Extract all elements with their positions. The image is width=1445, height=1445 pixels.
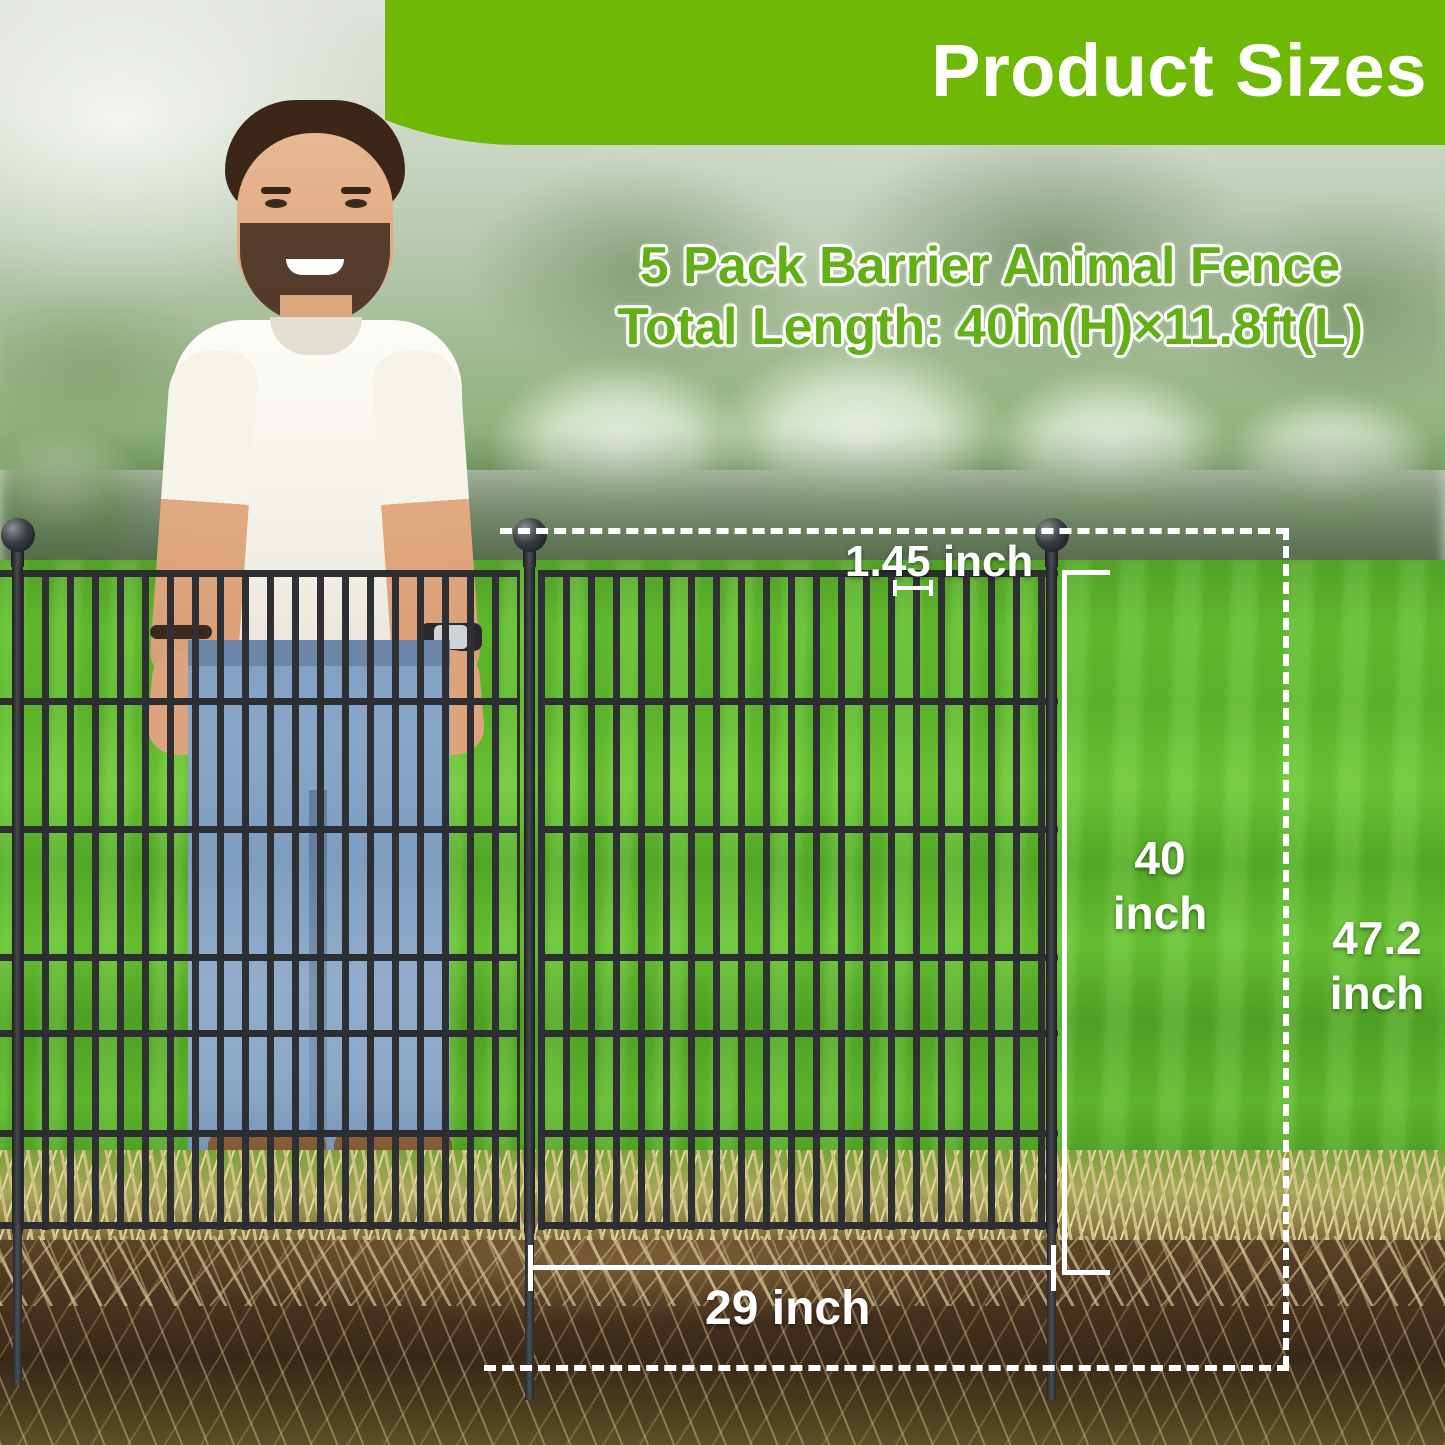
- subtitle-line-2: Total Length: 40in(H)×11.8ft(L): [545, 297, 1435, 358]
- product-size-infographic: Product Sizes 5 Pack Barrier Animal Fenc…: [0, 0, 1445, 1445]
- dimension-label-total-height-line-1: 47.2: [1297, 915, 1445, 962]
- fence-post: [1046, 563, 1057, 1235]
- fence-rail: [0, 698, 520, 705]
- fence-rail: [0, 1130, 520, 1137]
- eyebrow-right: [341, 187, 371, 194]
- eyebrow-left: [261, 187, 291, 194]
- ball-finial-icon: [1035, 518, 1069, 552]
- fence-panel-right: [538, 570, 1058, 1230]
- fence-rail: [0, 570, 520, 577]
- fence-rail: [538, 826, 1058, 833]
- fence-rail: [538, 954, 1058, 961]
- fence-rail: [538, 698, 1058, 705]
- fence-panel-left: [0, 570, 520, 1230]
- dimension-line-total-height-dashed: [1283, 528, 1289, 1368]
- dimension-label-height-line-1: 40: [1090, 835, 1230, 882]
- dimension-cap-left: [528, 1245, 533, 1291]
- eye-right: [345, 199, 367, 208]
- dimension-label-bar-spacing: 1.45 inch: [845, 540, 1033, 585]
- fence-rail: [538, 1222, 1058, 1229]
- bracket-bar: [893, 586, 933, 590]
- fence-rail: [0, 1222, 520, 1229]
- dimension-line-29inch: [528, 1265, 1056, 1270]
- dimension-label-total-height-line-2: inch: [1297, 970, 1445, 1017]
- dimension-line-40inch: [1062, 570, 1067, 1275]
- dimension-line-top-dashed: [500, 528, 1288, 534]
- dimension-cap-top: [1062, 570, 1110, 575]
- subtitle-line-1: 5 Pack Barrier Animal Fence: [545, 236, 1435, 297]
- dimension-cap-right: [1051, 1245, 1056, 1291]
- dimension-line-bottom-dashed: [484, 1365, 1289, 1371]
- fence-rail: [538, 1130, 1058, 1137]
- ball-finial-icon: [1, 518, 35, 552]
- page-title: Product Sizes: [931, 34, 1427, 108]
- fence-rail: [0, 1030, 520, 1037]
- fence-rail: [0, 954, 520, 961]
- fence-post: [12, 563, 23, 1235]
- product-subtitle: 5 Pack Barrier Animal Fence Total Length…: [545, 236, 1435, 358]
- dimension-cap-bottom: [1062, 1270, 1110, 1275]
- smile: [286, 259, 344, 275]
- ball-finial-icon: [513, 518, 547, 552]
- dimension-label-panel-width: 29 inch: [705, 1285, 870, 1334]
- ground-stake: [13, 1225, 22, 1385]
- fence-rail: [0, 826, 520, 833]
- dimension-label-height-line-2: inch: [1090, 890, 1230, 937]
- fence-assembly: [0, 525, 1060, 1270]
- fence-post: [524, 563, 535, 1235]
- fence-rail: [538, 1030, 1058, 1037]
- eye-left: [265, 199, 287, 208]
